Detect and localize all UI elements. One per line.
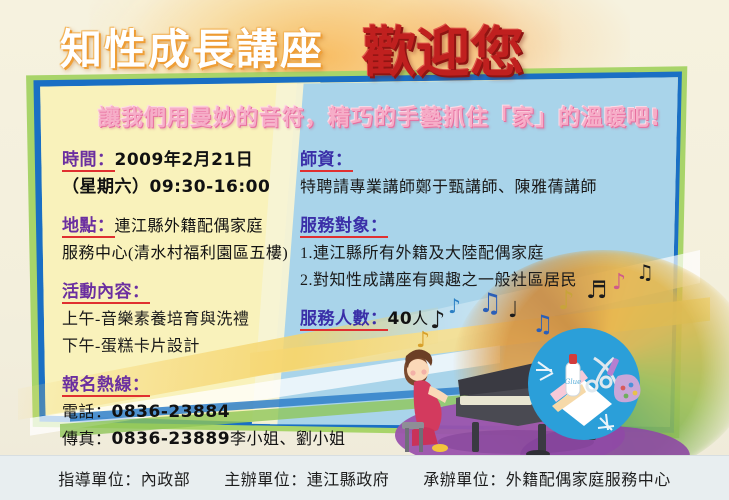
poster-root: Glue ♪ ♪ ♫ ♩ ♫ ♪ ♬ ♪ ♫ ♪ 知性成長講座 歡迎您 讓我們用… (0, 0, 729, 500)
footer-item-executor: 承辦單位：外籍配偶家庭服務中心 (423, 466, 671, 490)
right-info-column: 師資： 特聘請專業講師鄭于甄講師、陳雅蒨講師 服務對象： 1.連江縣所有外籍及大… (300, 146, 600, 333)
footer-item-organizer: 主辦單位：連江縣政府 (224, 466, 389, 490)
audience-item-2: 2.對知性成講座有興趣之一般社區居民 (300, 267, 600, 294)
time-label: 時間： (62, 150, 115, 172)
phone-value: 0836-23884 (112, 402, 231, 422)
pianist-icon (392, 336, 462, 456)
fax-row: 傳真：0836-23889李小姐、劉小姐 (62, 426, 302, 453)
hotline-label: 報名熱線： (62, 375, 150, 397)
time-row: 時間：2009年2月21日 (62, 146, 302, 174)
capacity-unit: 人 (412, 311, 429, 328)
subtitle: 讓我們用曼妙的音符，精巧的手藝抓住「家」的溫暖吧! (98, 100, 661, 132)
footer-item-guidance: 指導單位：內政部 (58, 466, 190, 490)
svg-text:Glue: Glue (565, 378, 581, 386)
capacity-label: 服務人數： (300, 309, 388, 331)
phone-label: 電話： (62, 404, 112, 421)
phone-row: 電話：0836-23884 (62, 399, 302, 426)
audience-label-row: 服務對象： (300, 212, 600, 240)
welcome-title: 歡迎您 (362, 8, 524, 87)
left-info-column: 時間：2009年2月21日 （星期六）09:30-16:00 地點：連江縣外籍配… (62, 146, 302, 453)
place-value: 連江縣外籍配偶家庭 (115, 218, 264, 235)
footer-bar: 指導單位：內政部 主辦單位：連江縣政府 承辦單位：外籍配偶家庭服務中心 (0, 455, 729, 500)
music-note-icon: ♪ (612, 272, 626, 294)
place-row: 地點：連江縣外籍配偶家庭 (62, 212, 302, 240)
content-label-row: 活動內容： (62, 278, 302, 306)
capacity-value: 40 (388, 309, 413, 329)
content-line-1: 上午-音樂素養培育與洗禮 (62, 306, 302, 333)
fax-contacts: 李小姐、劉小姐 (230, 431, 346, 448)
audience-item-1: 1.連江縣所有外籍及大陸配偶家庭 (300, 240, 600, 267)
place-row-2: 服務中心(清水村福利園區五樓) (62, 240, 302, 267)
content-line-2: 下午-蛋糕卡片設計 (62, 333, 302, 360)
fax-value: 0836-23889 (112, 429, 231, 449)
teacher-label: 師資： (300, 150, 353, 172)
hotline-label-row: 報名熱線： (62, 371, 302, 399)
music-note-icon: ♪ (416, 330, 430, 352)
teacher-value: 特聘請專業講師鄭于甄講師、陳雅蒨講師 (300, 174, 600, 201)
teacher-label-row: 師資： (300, 146, 600, 174)
content-label: 活動內容： (62, 282, 150, 304)
place-label: 地點： (62, 216, 115, 238)
capacity-row: 服務人數：40人 (300, 305, 600, 333)
time-row-2: （星期六）09:30-16:00 (62, 174, 302, 201)
time-value: 2009年2月21日 (115, 150, 254, 170)
page-title: 知性成長講座 (60, 16, 324, 77)
fax-label: 傳真： (62, 431, 112, 448)
music-note-icon: ♫ (636, 262, 654, 282)
time-value-2: （星期六）09:30-16:00 (62, 177, 270, 197)
audience-label: 服務對象： (300, 216, 388, 238)
place-value-2: 服務中心(清水村福利園區五樓) (62, 245, 288, 262)
